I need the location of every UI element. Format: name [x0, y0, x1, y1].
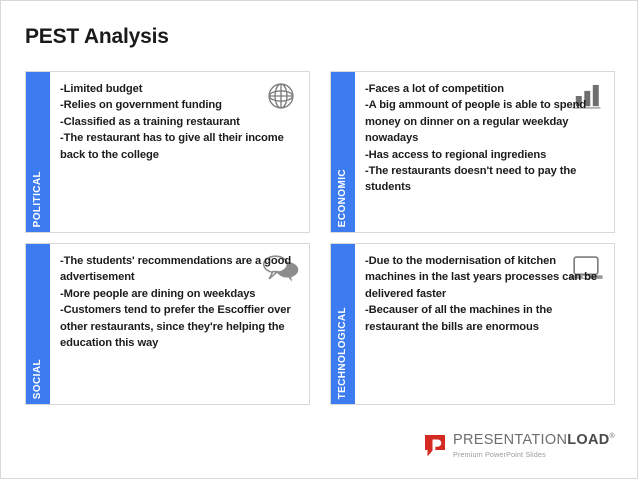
page-title: PEST Analysis: [25, 25, 169, 49]
logo-trademark: ®: [610, 433, 615, 440]
quadrant-technological-tab: TECHNOLOGICAL: [331, 244, 355, 404]
quadrant-social-label: SOCIAL: [26, 359, 50, 399]
quadrant-technological-label: TECHNOLOGICAL: [331, 307, 355, 399]
quadrant-social-text: -The students' recommendations are a goo…: [60, 253, 299, 351]
logo-wordmark: PRESENTATIONLOAD® Premium PowerPoint Sli…: [453, 433, 615, 458]
quadrant-economic-body: -Faces a lot of competition -A big ammou…: [355, 72, 614, 232]
slide-canvas: PEST Analysis POLITICAL -Limited budget …: [0, 0, 638, 479]
quadrant-social[interactable]: SOCIAL -The students' recommendations ar…: [25, 243, 310, 405]
quadrant-economic[interactable]: ECONOMIC -Faces a lot of competition -A …: [330, 71, 615, 233]
quadrant-political-tab: POLITICAL: [26, 72, 50, 232]
quadrant-political-label: POLITICAL: [26, 171, 50, 227]
quadrant-economic-text: -Faces a lot of competition -A big ammou…: [365, 81, 604, 196]
quadrant-political-text: -Limited budget -Relies on government fu…: [60, 81, 299, 163]
logo-name-bold: LOAD: [567, 432, 609, 448]
quadrant-technological[interactable]: TECHNOLOGICAL -Due to the modernisation …: [330, 243, 615, 405]
quadrant-technological-text: -Due to the modernisation of kitchen mac…: [365, 253, 604, 335]
speech-bubble-p-icon: [424, 434, 446, 458]
quadrant-political-body: -Limited budget -Relies on government fu…: [50, 72, 309, 232]
quadrant-social-tab: SOCIAL: [26, 244, 50, 404]
logo-name-light: PRESENTATION: [453, 432, 567, 448]
quadrant-technological-body: -Due to the modernisation of kitchen mac…: [355, 244, 614, 404]
logo-name: PRESENTATIONLOAD®: [453, 433, 615, 448]
quadrant-economic-tab: ECONOMIC: [331, 72, 355, 232]
quadrant-economic-label: ECONOMIC: [331, 169, 355, 227]
logo-tagline: Premium PowerPoint Slides: [453, 451, 615, 458]
quadrant-political[interactable]: POLITICAL -Limited budget -Relies on gov…: [25, 71, 310, 233]
presentationload-logo: PRESENTATIONLOAD® Premium PowerPoint Sli…: [424, 433, 615, 458]
quadrant-social-body: -The students' recommendations are a goo…: [50, 244, 309, 404]
